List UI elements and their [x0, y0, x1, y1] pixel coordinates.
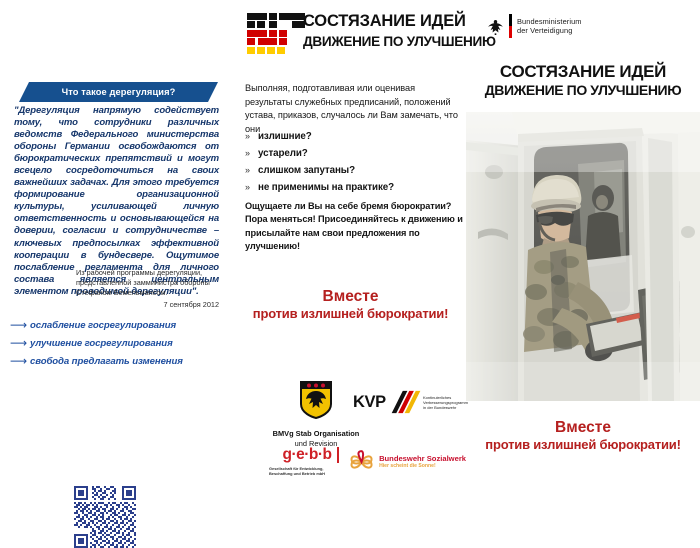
list-item: ⟶ свобода предлагать изменения [10, 352, 225, 370]
qr-code[interactable] [74, 486, 136, 548]
right-column: СОСТЯЗАНИЕ ИДЕЙ ДВИЖЕНИЕ ПО УЛУЧШЕНИЮ [466, 0, 700, 525]
slogan-line1: Вместе [466, 418, 700, 437]
arrow-right-icon: ⟶ [10, 337, 23, 349]
sozialwerk-name: Bundeswehr Sozialwerk [379, 454, 466, 463]
poster-page: СОСТЯЗАНИЕ ИДЕЙ ДВИЖЕНИЕ ПО УЛУЧШЕНИЮ Bu… [0, 0, 700, 525]
german-flag-pixel-logo [247, 13, 305, 61]
partner-logos: BMVg Stab Organisation und Revision KVP … [228, 380, 466, 520]
slogan-line2: против излишней бюрократии! [466, 437, 700, 453]
question-label: не применимы на практике? [258, 182, 394, 193]
kvp-caption: Kontinuierliches Verbesserungsprogramm i… [423, 395, 465, 410]
right-title: СОСТЯЗАНИЕ ИДЕЙ ДВИЖЕНИЕ ПО УЛУЧШЕНИЮ [466, 62, 700, 99]
goal-label: свобода предлагать изменения [30, 356, 183, 367]
left-column: Что такое дерегуляция? "Дерегуляция напр… [0, 72, 228, 525]
attribution-text: Из рабочей программы дерегуляции, предст… [76, 268, 219, 299]
slogan-line1: Вместе [238, 288, 463, 306]
question-label: слишком запутаны? [258, 165, 355, 176]
guillemet-icon: » [245, 182, 253, 192]
bmvg-crest-icon [299, 380, 333, 420]
arrow-right-icon: ⟶ [10, 355, 23, 367]
ribbon-label: Что такое дерегуляция? [62, 87, 176, 97]
list-item: ⟶ улучшение госрегулирования [10, 334, 225, 352]
list-item: » излишние? [245, 131, 463, 142]
question-label: устарели? [258, 148, 308, 159]
questions-list: » излишние? » устарели? » слишком запута… [245, 131, 463, 199]
call-to-action: Ощущаете ли Вы на себе бремя бюрократии?… [245, 200, 467, 254]
sozialwerk-flower-icon [348, 448, 375, 476]
bundeswehr-sozialwerk-logo: Bundeswehr Sozialwerk Hier scheint die S… [348, 448, 466, 476]
sozialwerk-text-block: Bundeswehr Sozialwerk Hier scheint die S… [379, 454, 466, 470]
right-title-line1: СОСТЯЗАНИЕ ИДЕЙ [466, 62, 700, 82]
guillemet-icon: » [245, 131, 253, 141]
list-item: » слишком запутаны? [245, 165, 463, 176]
kvp-flag-swoosh-icon [388, 388, 421, 416]
sozialwerk-tagline: Hier scheint die Sonne! [379, 463, 466, 470]
gebb-caption: Gesellschaft für Entwicklung, Beschaffun… [269, 466, 341, 476]
list-item: » не применимы на практике? [245, 182, 463, 193]
slogan-right: Вместе против излишней бюрократии! [466, 418, 700, 453]
quote-attribution: Из рабочей программы дерегуляции, предст… [76, 268, 219, 310]
guillemet-icon: » [245, 165, 253, 175]
attribution-date: 7 сентября 2012 [76, 300, 219, 310]
slogan-line2: против излишней бюрократии! [238, 306, 463, 322]
intro-paragraph: Выполняя, подготавливая или оценивая рез… [245, 82, 463, 136]
goal-label: улучшение госрегулирования [30, 338, 173, 349]
goals-list: ⟶ ослабление госрегулирования ⟶ улучшени… [10, 316, 225, 370]
kvp-logo: KVP Kontinuierliches Verbesserungsprogra… [353, 388, 465, 416]
right-title-line2: ДВИЖЕНИЕ ПО УЛУЧШЕНИЮ [466, 82, 700, 99]
soldier-in-military-vehicle-writing [466, 112, 700, 401]
list-item: ⟶ ослабление госрегулирования [10, 316, 225, 334]
middle-column: Выполняя, подготавливая или оценивая рез… [228, 72, 466, 525]
slogan-middle: Вместе против излишней бюрократии! [238, 288, 463, 322]
question-label: излишние? [258, 131, 312, 142]
guillemet-icon: » [245, 148, 253, 158]
deregulation-ribbon-heading: Что такое дерегуляция? [19, 82, 218, 102]
gebb-text: g·e·b·b [282, 447, 338, 463]
list-item: » устарели? [245, 148, 463, 159]
bmvg-caption1: BMVg Stab Organisation [252, 429, 380, 439]
soldier-photo [466, 112, 700, 401]
goal-label: ослабление госрегулирования [30, 320, 176, 331]
arrow-right-icon: ⟶ [10, 319, 23, 331]
kvp-text: KVP [353, 393, 386, 412]
